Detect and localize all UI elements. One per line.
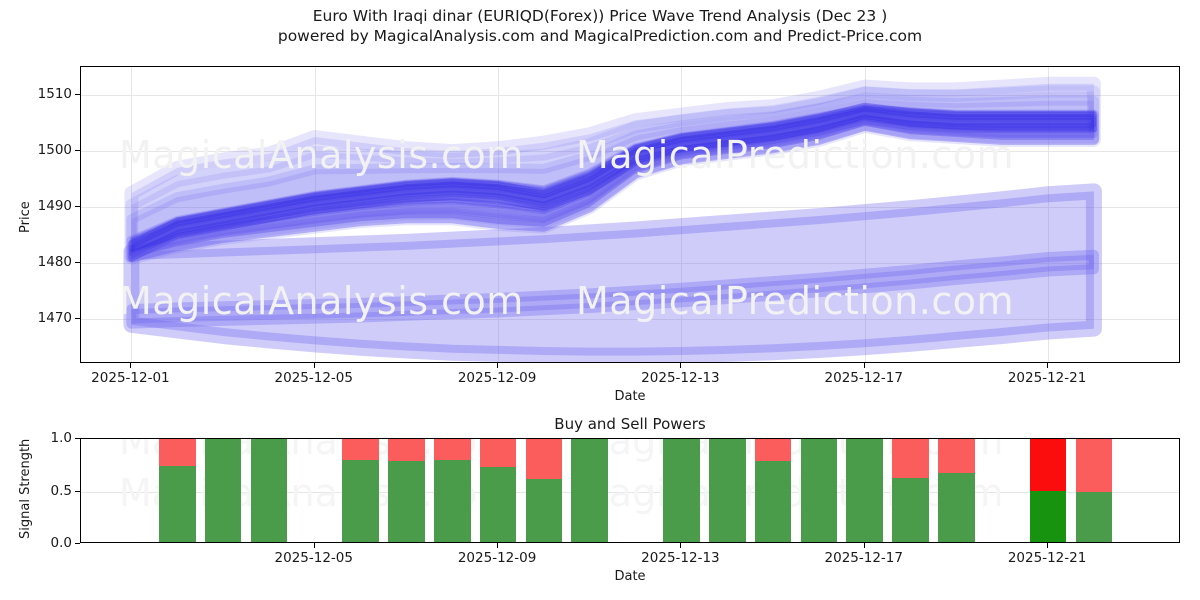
signal-bar-buy-segment — [388, 461, 425, 542]
signal-bar-buy-segment — [434, 460, 471, 542]
price-xtick-label: 2025-12-01 — [91, 370, 169, 386]
signal-xtick-mark — [1047, 543, 1048, 548]
signal-bar — [480, 438, 517, 542]
signal-xtick-label: 2025-12-21 — [1008, 550, 1086, 566]
signal-bar-buy-segment — [892, 478, 929, 542]
signal-ytick-mark — [75, 543, 80, 544]
chart-page: Euro With Iraqi dinar (EURIQD(Forex)) Pr… — [0, 0, 1200, 600]
signal-bar — [1076, 438, 1113, 542]
signal-bar — [755, 438, 792, 542]
signal-bar-sell-segment — [526, 438, 563, 479]
signal-xtick-mark — [680, 543, 681, 548]
signal-xtick-mark — [314, 543, 315, 548]
signal-xtick-label: 2025-12-05 — [275, 550, 353, 566]
signal-bar-buy-segment — [342, 460, 379, 542]
price-xtick-mark — [864, 363, 865, 368]
signal-bar-sell-segment — [388, 438, 425, 461]
price-xtick-label: 2025-12-21 — [1008, 370, 1086, 386]
signal-bar — [938, 438, 975, 542]
signal-bar-buy-segment — [1030, 491, 1067, 542]
price-wave-bands — [81, 67, 1180, 363]
signal-bar — [571, 438, 608, 542]
price-xtick-mark — [680, 363, 681, 368]
price-wave-plot: MagicalAnalysis.comMagicalPrediction.com… — [80, 66, 1180, 363]
signal-bar — [159, 438, 196, 542]
signal-yaxis-title: Signal Strength — [18, 438, 33, 538]
signal-bar — [342, 438, 379, 542]
signal-bar — [1030, 438, 1067, 542]
signal-bar-buy-segment — [938, 473, 975, 542]
price-xtick-label: 2025-12-09 — [458, 370, 536, 386]
signal-bar — [526, 438, 563, 542]
signal-bar-buy-segment — [526, 479, 563, 542]
signal-bar-sell-segment — [159, 438, 196, 466]
signal-bar-buy-segment — [801, 438, 838, 542]
signal-gridline — [81, 492, 1179, 493]
signal-xtick-mark — [864, 543, 865, 548]
price-xtick-mark — [314, 363, 315, 368]
signal-ytick-label: 0.0 — [32, 535, 72, 551]
signal-xtick-mark — [497, 543, 498, 548]
buy-sell-powers-plot: MagicalAnalysis.comMagicalPrediction.com… — [80, 438, 1180, 543]
price-xtick-mark — [1047, 363, 1048, 368]
signal-bar — [434, 438, 471, 542]
signal-bar-buy-segment — [755, 461, 792, 542]
signal-bar-sell-segment — [1030, 438, 1067, 491]
price-ytick-label: 1490 — [32, 198, 72, 214]
page-title-line-2: powered by MagicalAnalysis.com and Magic… — [0, 26, 1200, 46]
price-yaxis-title: Price — [18, 201, 33, 233]
signal-xaxis-title: Date — [614, 569, 645, 584]
signal-bar-sell-segment — [342, 438, 379, 460]
price-xtick-mark — [497, 363, 498, 368]
price-ytick-label: 1480 — [32, 254, 72, 270]
signal-xtick-label: 2025-12-09 — [458, 550, 536, 566]
price-xaxis-title: Date — [614, 389, 645, 404]
signal-bar — [892, 438, 929, 542]
signal-bar-sell-segment — [434, 438, 471, 460]
signal-bar-sell-segment — [938, 438, 975, 473]
signal-subplot-title: Buy and Sell Powers — [554, 415, 705, 433]
signal-bar-sell-segment — [480, 438, 517, 467]
signal-bar-buy-segment — [251, 438, 288, 542]
signal-ytick-label: 1.0 — [32, 430, 72, 446]
chart-title-block: Euro With Iraqi dinar (EURIQD(Forex)) Pr… — [0, 6, 1200, 46]
price-xtick-mark — [130, 363, 131, 368]
signal-bar-buy-segment — [709, 439, 746, 542]
signal-bar-buy-segment — [205, 438, 242, 542]
price-ytick-label: 1470 — [32, 310, 72, 326]
signal-bar-sell-segment — [1076, 438, 1113, 492]
price-xtick-label: 2025-12-17 — [825, 370, 903, 386]
signal-xtick-label: 2025-12-13 — [641, 550, 719, 566]
signal-bar — [388, 438, 425, 542]
signal-bar-buy-segment — [571, 438, 608, 542]
signal-xtick-label: 2025-12-17 — [825, 550, 903, 566]
signal-bar-buy-segment — [663, 438, 700, 542]
signal-bar-sell-segment — [892, 438, 929, 478]
signal-bar — [709, 438, 746, 542]
signal-bar-sell-segment — [755, 438, 792, 461]
signal-bar-buy-segment — [159, 466, 196, 542]
price-xtick-label: 2025-12-05 — [275, 370, 353, 386]
price-xtick-label: 2025-12-13 — [641, 370, 719, 386]
signal-bar — [205, 438, 242, 542]
price-ytick-label: 1500 — [32, 142, 72, 158]
signal-ytick-label: 0.5 — [32, 483, 72, 499]
signal-bar — [663, 438, 700, 542]
signal-bar-sell-segment — [709, 438, 746, 439]
price-ytick-label: 1510 — [32, 86, 72, 102]
signal-bar — [846, 438, 883, 542]
signal-bar-buy-segment — [846, 438, 883, 542]
signal-bar-buy-segment — [480, 467, 517, 542]
page-title-line-1: Euro With Iraqi dinar (EURIQD(Forex)) Pr… — [0, 6, 1200, 26]
signal-bar-buy-segment — [1076, 492, 1113, 542]
signal-bar — [251, 438, 288, 542]
signal-bar — [801, 438, 838, 542]
